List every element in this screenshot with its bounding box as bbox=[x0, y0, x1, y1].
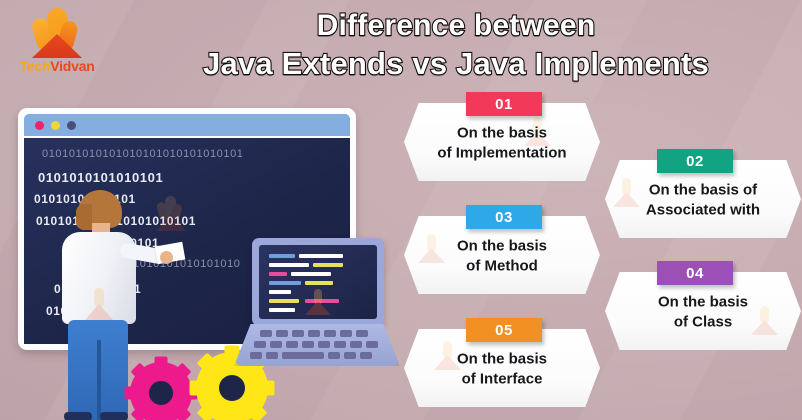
laptop-lid bbox=[252, 238, 384, 326]
ribbon-label: On the basis of Method bbox=[404, 236, 600, 277]
ribbon-label: On the basis of Implementation bbox=[404, 123, 600, 163]
ribbon-label-line2: of Implementation bbox=[404, 144, 600, 164]
title-line-1: Difference between bbox=[317, 9, 596, 42]
browser-title-bar bbox=[24, 114, 350, 136]
ribbon-label-line2: Associated with bbox=[605, 201, 801, 221]
infographic-canvas: TechVidvan Difference between Java Exten… bbox=[0, 0, 802, 420]
page-title: Difference between Java Extends vs Java … bbox=[120, 8, 792, 82]
navy-dot-icon bbox=[67, 121, 76, 130]
person-hand bbox=[160, 251, 173, 264]
person-shoe-left bbox=[64, 412, 92, 420]
watermark-flame-icon bbox=[84, 288, 114, 324]
binary-row: 0101010101010101 bbox=[38, 170, 163, 185]
ribbon-label-line1: On the basis of bbox=[605, 180, 801, 200]
ribbon-associated-with[interactable]: 02 On the basis of Associated with bbox=[605, 160, 801, 238]
logo-word-vidvan: Vidvan bbox=[50, 58, 94, 74]
ribbon-label: On the basis of Class bbox=[605, 292, 801, 333]
person-hair-side bbox=[76, 204, 92, 230]
ribbon-label-line1: On the basis bbox=[404, 236, 600, 256]
ribbon-label: On the basis of Associated with bbox=[605, 180, 801, 221]
laptop-keyboard bbox=[234, 324, 400, 366]
flame-logo-icon bbox=[24, 8, 90, 58]
ribbon-method[interactable]: 03 On the basis of Method bbox=[404, 216, 600, 294]
ribbon-label: On the basis of Interface bbox=[404, 349, 600, 390]
title-line-2: Java Extends vs Java Implements bbox=[120, 45, 792, 83]
yellow-dot-icon bbox=[51, 121, 60, 130]
logo-word-tech: Tech bbox=[19, 58, 50, 74]
ribbon-number-badge: 03 bbox=[466, 205, 542, 229]
pink-gear bbox=[130, 362, 192, 420]
pink-dot-icon bbox=[35, 121, 44, 130]
ribbon-interface[interactable]: 05 On the basis of Interface bbox=[404, 329, 600, 407]
ribbon-number-badge: 05 bbox=[466, 318, 542, 342]
person-shoe-right bbox=[100, 412, 128, 420]
laptop-screen-code bbox=[259, 245, 377, 319]
watermark-flame-icon bbox=[305, 289, 331, 317]
ribbon-implementation[interactable]: 01 On the basis of Implementation bbox=[404, 103, 600, 181]
ribbon-label-line2: of Class bbox=[605, 313, 801, 333]
logo-wordmark: TechVidvan bbox=[14, 59, 100, 73]
ribbon-number-badge: 01 bbox=[466, 92, 542, 116]
techvidvan-logo: TechVidvan bbox=[14, 8, 100, 80]
ribbon-number-badge: 04 bbox=[657, 261, 733, 285]
ribbon-number-badge: 02 bbox=[657, 149, 733, 173]
illustration: 010101010101010101010101010101 010101010… bbox=[0, 86, 400, 420]
ribbon-label-line2: of Interface bbox=[404, 370, 600, 390]
ribbon-label-line1: On the basis bbox=[404, 349, 600, 369]
binary-row: 010101010101010101010101010101 bbox=[42, 148, 244, 160]
ribbon-label-line2: of Method bbox=[404, 257, 600, 277]
person-leg-split bbox=[97, 340, 101, 420]
ribbon-label-line1: On the basis bbox=[605, 292, 801, 312]
ribbon-class[interactable]: 04 On the basis of Class bbox=[605, 272, 801, 350]
laptop bbox=[234, 238, 400, 378]
ribbon-label-line1: On the basis bbox=[404, 123, 600, 143]
